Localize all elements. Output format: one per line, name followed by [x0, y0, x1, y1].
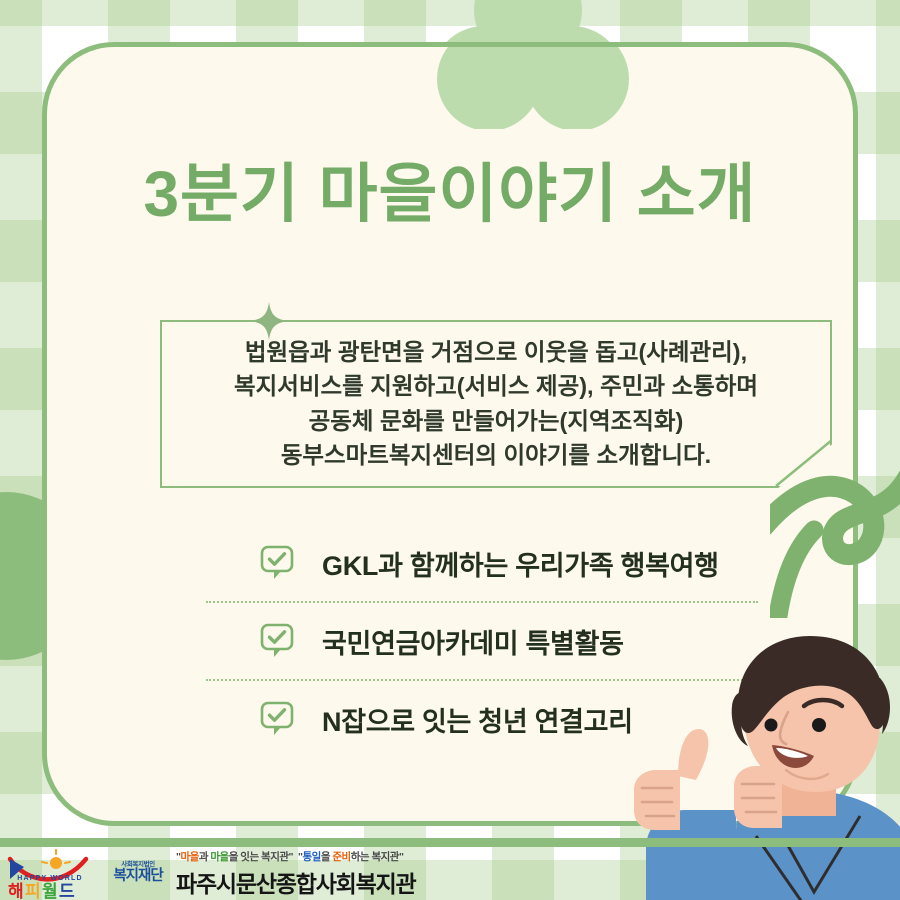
organization-name: 파주시문산종합사회복지관: [176, 865, 416, 899]
svg-text:HAPPY WORLD: HAPPY WORLD: [17, 875, 83, 882]
slogan2-part2: 을: [321, 851, 333, 863]
list-item-label: N잡으로 잇는 청년 연결고리: [322, 700, 633, 739]
slogan-line: "마을과 마을을 잇는 복지관""통일을 준비하는 복지관": [176, 849, 416, 864]
check-bubble-icon: [260, 701, 294, 737]
description-line: 공동체 문화를 만들어가는(지역조직화): [309, 406, 684, 437]
slogan1-part3: 마을: [210, 851, 228, 863]
slogan1-close: ": [289, 851, 293, 863]
check-bubble-icon: [260, 623, 294, 659]
footer-divider: [0, 838, 900, 847]
description-line: 복지서비스를 지원하고(서비스 제공), 주민과 소통하며: [234, 371, 758, 402]
svg-text:월: 월: [42, 882, 58, 899]
footer: HAPPY WORLD 해 피 월 드 사회복지법인 복지재단 "마을과 마을을…: [0, 838, 900, 900]
slogan1-part1: 마을: [180, 851, 198, 863]
poster-root: 3분기 마을이야기 소개 법원읍과 광탄면을 거점으로 이웃을 돕고(사례관리)…: [0, 0, 900, 900]
svg-text:드: 드: [59, 882, 75, 899]
list-item-label: 국민연금아카데미 특별활동: [322, 622, 624, 661]
list-item: 국민연금아카데미 특별활동: [202, 603, 762, 679]
foundation-main: 복지재단: [106, 869, 170, 884]
svg-text:해: 해: [8, 882, 24, 899]
svg-text:피: 피: [25, 882, 41, 899]
slogan2-part3: 준비: [332, 851, 350, 863]
slogan1-part2: 과: [199, 851, 211, 863]
description-line: 동부스마트복지센터의 이야기를 소개합니다.: [281, 440, 711, 471]
clover-icon-inner: [403, 42, 663, 129]
slogan1-part4: 을 잇는 복지관: [229, 851, 289, 863]
list-item-label: GKL과 함께하는 우리가족 행복여행: [322, 544, 719, 583]
check-bubble-icon: [260, 545, 294, 581]
slogan2-part1: 통일: [302, 851, 320, 863]
foundation-name: 사회복지법인 복지재단: [106, 862, 170, 884]
list-item: N잡으로 잇는 청년 연결고리: [202, 681, 762, 757]
slogan2-close: ": [399, 851, 403, 863]
description-line: 법원읍과 광탄면을 거점으로 이웃을 돕고(사례관리),: [245, 337, 747, 368]
slogan2-part4: 하는 복지관: [351, 851, 399, 863]
footer-text-block: "마을과 마을을 잇는 복지관""통일을 준비하는 복지관" 파주시문산종합사회…: [176, 849, 416, 899]
description-text: 법원읍과 광탄면을 거점으로 이웃을 돕고(사례관리), 복지서비스를 지원하고…: [160, 320, 832, 488]
checklist: GKL과 함께하는 우리가족 행복여행 국민연금아카데미 특별활동: [202, 525, 762, 757]
happy-world-logo: HAPPY WORLD 해 피 월 드: [4, 849, 100, 899]
list-item: GKL과 함께하는 우리가족 행복여행: [202, 525, 762, 601]
page-title: 3분기 마을이야기 소개: [47, 143, 853, 235]
description-box: 법원읍과 광탄면을 거점으로 이웃을 돕고(사례관리), 복지서비스를 지원하고…: [160, 320, 832, 488]
main-card: 3분기 마을이야기 소개 법원읍과 광탄면을 거점으로 이웃을 돕고(사례관리)…: [42, 42, 858, 826]
